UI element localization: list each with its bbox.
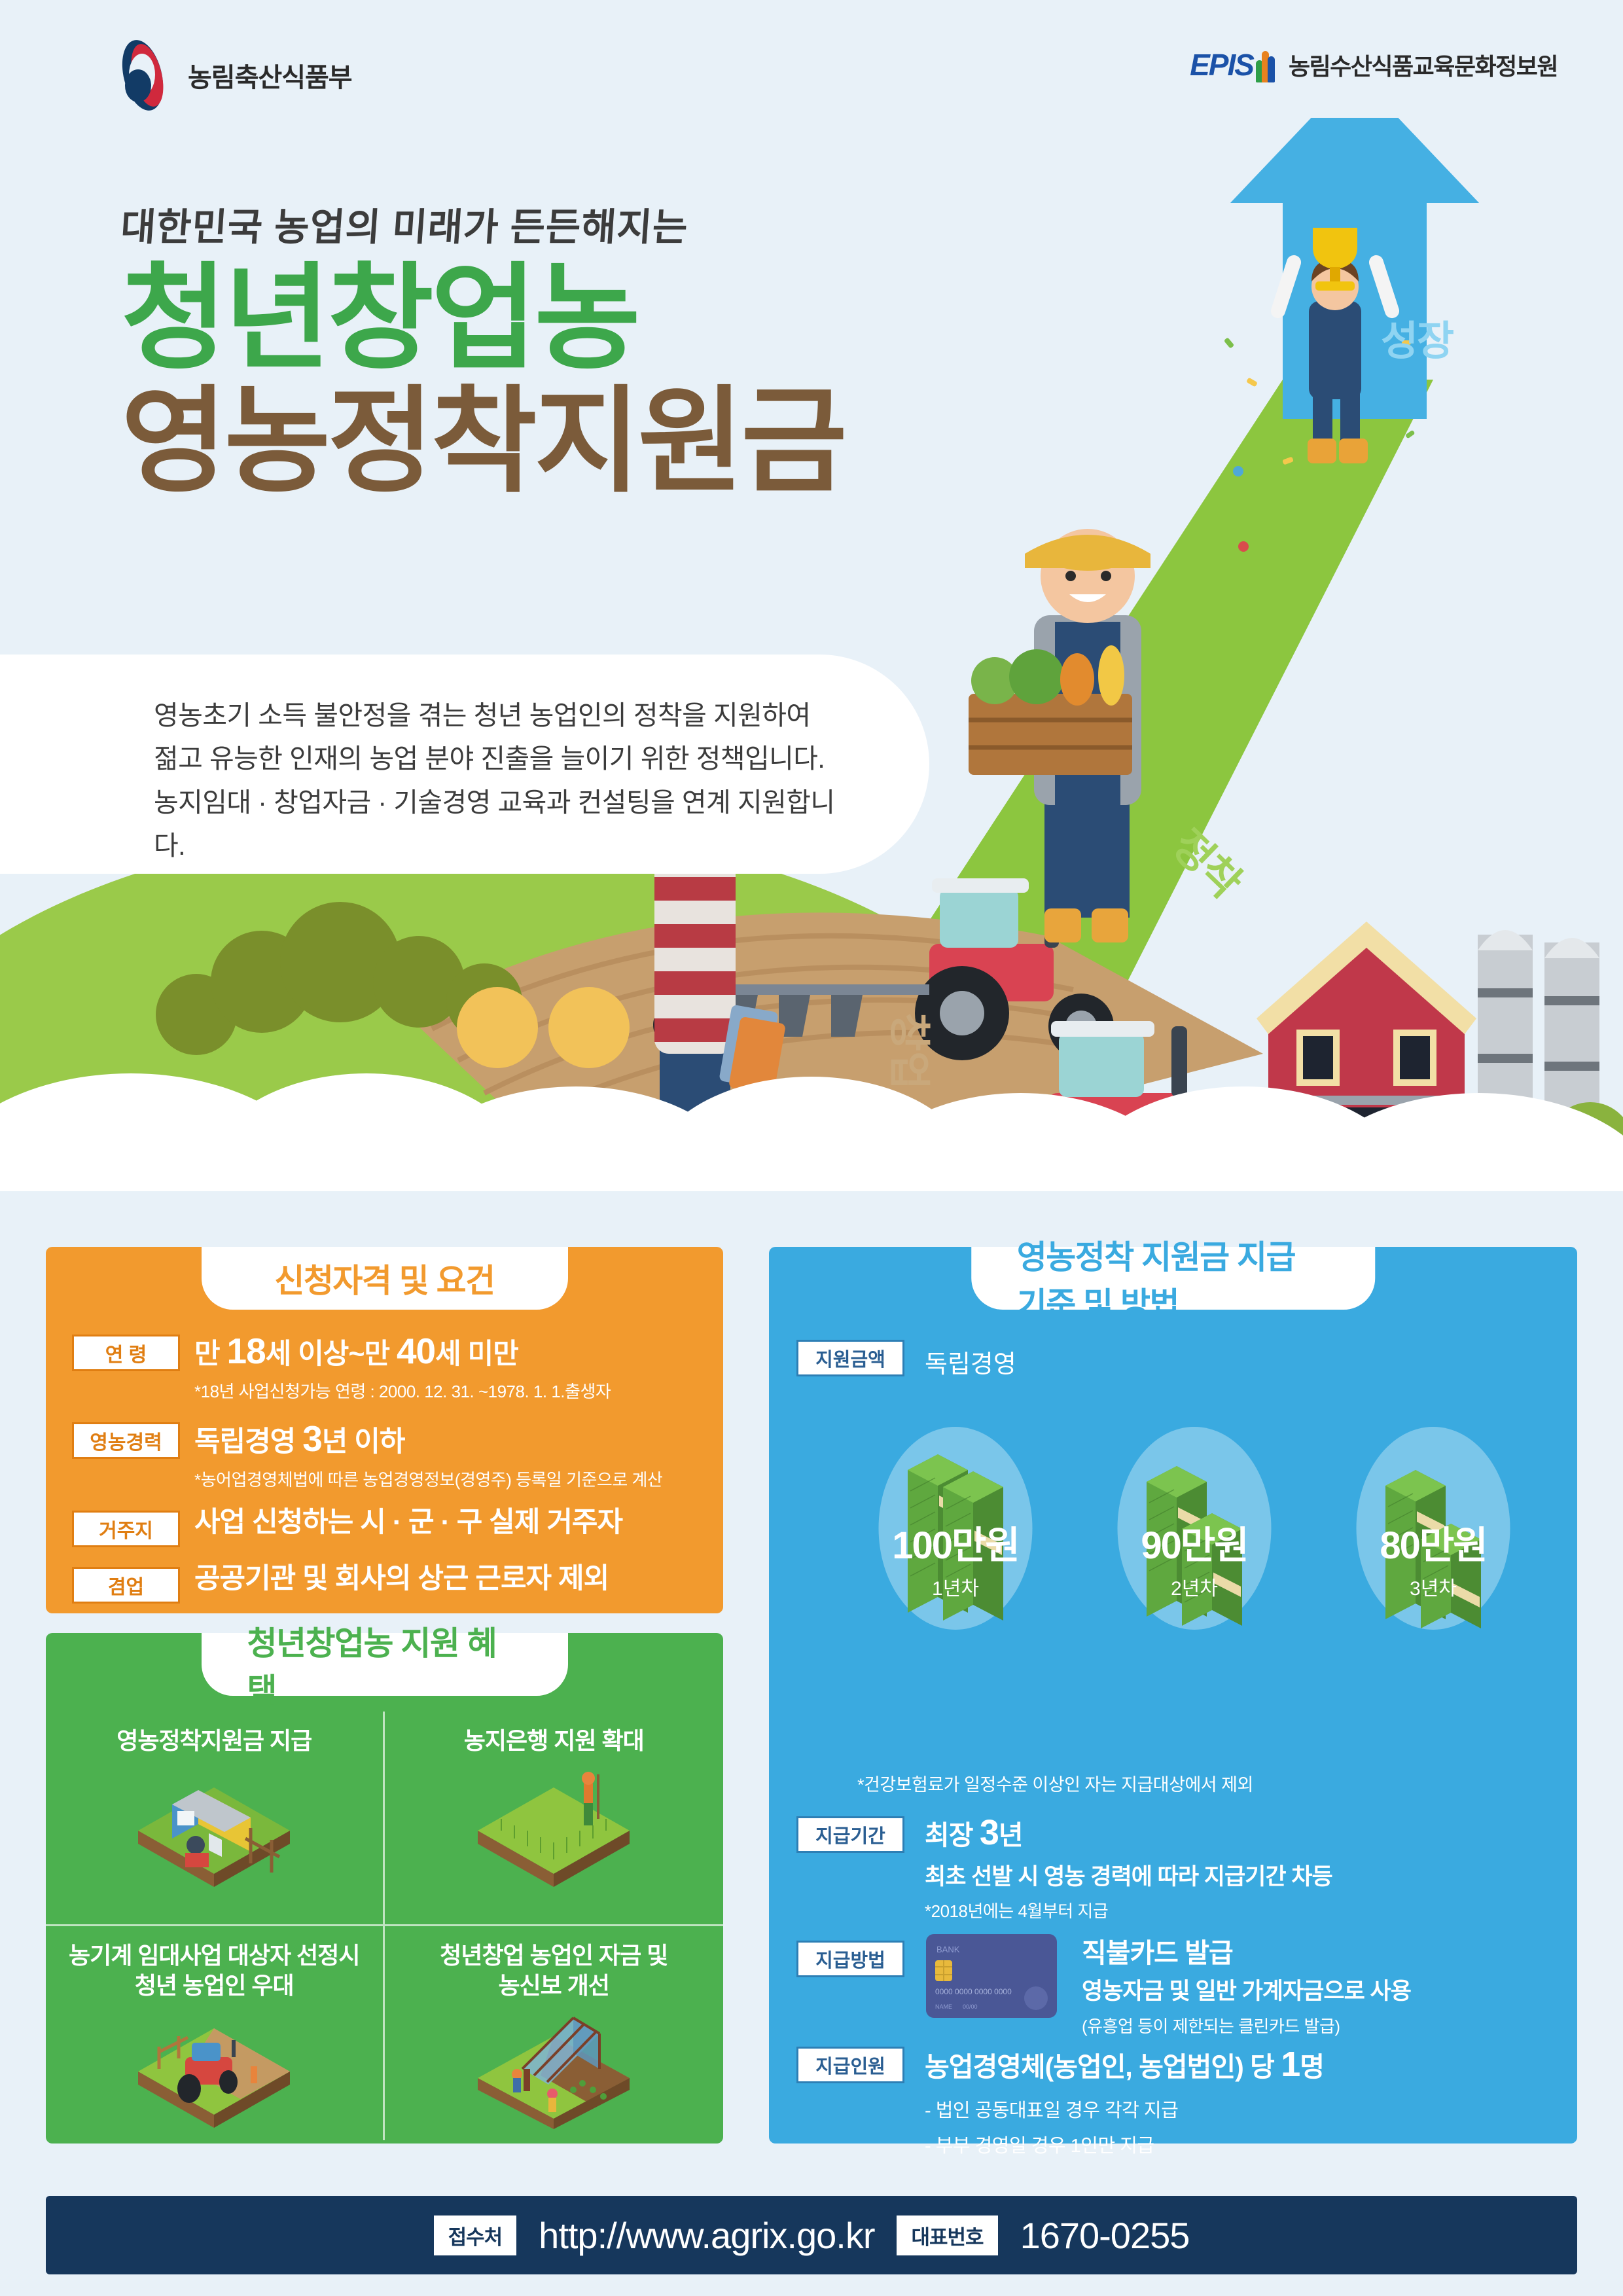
arrow-growth-label: 성장 xyxy=(1381,308,1453,367)
phone-number[interactable]: 1670-0255 xyxy=(1020,2214,1190,2257)
qualification-chip: 영농경력 xyxy=(72,1422,180,1459)
qualification-chip: 거주지 xyxy=(72,1511,180,1547)
flame-icon xyxy=(1256,48,1275,82)
money-column: 80만원 3년차 xyxy=(1325,1414,1541,1630)
ministry-logo-label: 농림축산식품부 xyxy=(188,56,352,94)
money-value: 80만원 xyxy=(1325,1515,1541,1570)
qualification-row: 영농경력 독립경영 3년 이하 *농어업경영체법에 따른 농업경영정보(경영주)… xyxy=(72,1418,710,1490)
period-note: *2018년에는 4월부터 지급 xyxy=(925,1898,1553,1922)
qualification-row: 연 령 만 18세 이상~만 40세 미만 *18년 사업신청가능 연령 : 2… xyxy=(72,1331,710,1403)
qualification-main: 사업 신청하는 시 · 군 · 구 실제 거주자 xyxy=(194,1507,710,1539)
qualification-main: 공공기관 및 회사의 상근 근로자 제외 xyxy=(194,1563,710,1595)
benefits-title-tab: 청년창업농 지원 혜택 xyxy=(202,1633,568,1696)
payment-title-tab: 영농정착 지원금 지급 기준 및 방법 xyxy=(971,1247,1376,1310)
payment-title: 영농정착 지원금 지급 기준 및 방법 xyxy=(1017,1231,1330,1325)
benefits-grid: 영농정착지원금 지급 xyxy=(46,1712,723,2140)
benefit-label: 농기계 임대사업 대상자 선정시청년 농업인 우대 xyxy=(69,1941,360,2001)
hero-kicker: 대한민국 농업의 미래가 든든해지는 xyxy=(119,196,846,251)
apply-url[interactable]: http://www.agrix.go.kr xyxy=(539,2214,874,2257)
bank-building-icon xyxy=(135,1765,293,1890)
money-column: 90만원 2년차 xyxy=(1086,1414,1302,1630)
method-sub: 영농자금 및 일반 가계자금으로 사용 xyxy=(1082,1977,1560,2007)
svg-text:NAME: NAME xyxy=(935,2003,952,2010)
money-column: 100만원 1년차 xyxy=(847,1414,1063,1630)
qualifications-title-tab: 신청자격 및 요건 xyxy=(202,1247,568,1310)
grass-field-icon xyxy=(475,1765,632,1890)
money-value: 90만원 xyxy=(1086,1515,1302,1570)
benefit-cell: 농기계 임대사업 대상자 선정시청년 농업인 우대 xyxy=(46,1926,385,2141)
headcount-chip: 지급인원 xyxy=(796,2047,904,2083)
benefit-cell: 영농정착지원금 지급 xyxy=(46,1712,385,1926)
svg-text:0000 0000 0000 0000: 0000 0000 0000 0000 xyxy=(935,1987,1012,1996)
description-line-3: 농지임대 · 창업자금 · 기술경영 교육과 컨설팅을 연계 지원합니다. xyxy=(154,781,851,868)
method-section: 직불카드 발급 영농자금 및 일반 가계자금으로 사용 (유흥업 등이 제한되는… xyxy=(1082,1937,1560,2037)
epis-wordmark: EPIS xyxy=(1190,47,1275,82)
epis-logo: EPIS 농림수산식품교육문화정보원 xyxy=(1190,47,1558,82)
benefit-label: 영농정착지원금 지급 xyxy=(116,1726,312,1760)
money-chart: 100만원 1년차 xyxy=(838,1414,1551,1754)
hero-title-block: 대한민국 농업의 미래가 든든해지는 청년창업농 영농정착지원금 xyxy=(121,196,844,501)
phone-chip: 대표번호 xyxy=(897,2215,997,2255)
description-line-2: 젊고 유능한 인재의 농업 분야 진출을 늘이기 위한 정책입니다. xyxy=(154,737,851,780)
benefit-cell: 청년창업 농업인 자금 및농신보 개선 xyxy=(385,1926,724,2141)
money-year: 1년차 xyxy=(847,1572,1063,1601)
money-year: 3년차 xyxy=(1325,1572,1541,1601)
method-chip: 지급방법 xyxy=(796,1941,904,1977)
method-main: 직불카드 발급 xyxy=(1082,1937,1560,1970)
greenhouse-icon xyxy=(475,2006,632,2130)
ministry-logo: 농림축산식품부 xyxy=(115,39,352,111)
epis-logo-label: 농림수산식품교육문화정보원 xyxy=(1289,48,1558,82)
description-bubble: 영농초기 소득 불안정을 겪는 청년 농업인의 정착을 지원하여 젊고 유능한 … xyxy=(0,655,929,874)
method-note: (유흥업 등이 제한되는 클린카드 발급) xyxy=(1082,2013,1560,2037)
benefits-title: 청년창업농 지원 혜택 xyxy=(247,1617,522,1712)
qualifications-list: 연 령 만 18세 이상~만 40세 미만 *18년 사업신청가능 연령 : 2… xyxy=(72,1331,710,1619)
qualification-note: *18년 사업신청가능 연령 : 2000. 12. 31. ~1978. 1.… xyxy=(194,1378,710,1403)
headcount-bullet-2: - 부부 경영일 경우 1인만 지급 xyxy=(925,2130,1553,2158)
headcount-bullet-1: - 법인 공동대표일 경우 각각 지급 xyxy=(925,2095,1553,2123)
tractor-plot-icon xyxy=(135,2006,293,2130)
period-chip: 지급기간 xyxy=(796,1816,904,1853)
hero-line-2: 영농정착지원금 xyxy=(121,384,844,501)
amount-chip: 지원금액 xyxy=(796,1340,904,1376)
taegeuk-icon xyxy=(115,39,171,111)
amount-note: *건강보험료가 일정수준 이상인 자는 지급대상에서 제외 xyxy=(857,1770,1253,1796)
benefits-panel: 청년창업농 지원 혜택 영농정착지원금 지급 xyxy=(46,1633,723,2144)
hero-line-1: 청년창업농 xyxy=(121,260,844,378)
period-sub: 최초 선발 시 영농 경력에 따라 지급기간 차등 xyxy=(925,1862,1553,1892)
qualification-main: 만 18세 이상~만 40세 미만 xyxy=(194,1331,710,1372)
apply-chip: 접수처 xyxy=(434,2215,517,2255)
benefit-label: 농지은행 지원 확대 xyxy=(464,1726,644,1760)
money-value: 100만원 xyxy=(847,1515,1063,1570)
benefit-label: 청년창업 농업인 자금 및농신보 개선 xyxy=(440,1941,668,2001)
qualifications-panel: 신청자격 및 요건 연 령 만 18세 이상~만 40세 미만 *18년 사업신… xyxy=(46,1247,723,1613)
field-startup-label: 창업 xyxy=(882,1013,942,1090)
payment-panel: 영농정착 지원금 지급 기준 및 방법 지원금액 독립경영 xyxy=(769,1247,1577,2144)
qualification-note: *농어업경영체법에 따른 농업경영정보(경영주) 등록일 기준으로 계산 xyxy=(194,1467,710,1491)
money-year: 2년차 xyxy=(1086,1572,1302,1601)
svg-text:00/00: 00/00 xyxy=(963,2003,978,2010)
svg-text:BANK: BANK xyxy=(936,1945,960,1954)
amount-subtitle-wrap: 독립경영 xyxy=(925,1344,1016,1380)
period-main: 최장 3년 xyxy=(925,1811,1553,1856)
headcount-main: 농업경영체(농업인, 농업법인) 당 1명 xyxy=(925,2043,1553,2087)
footer-bar: 접수처 http://www.agrix.go.kr 대표번호 1670-025… xyxy=(46,2196,1577,2274)
debit-card-icon: BANK 0000 0000 0000 0000 NAME 00/00 xyxy=(926,1934,1057,2018)
amount-subtitle: 독립경영 xyxy=(925,1344,1016,1380)
header-logo-row: 농림축산식품부 EPIS 농림수산식품교육문화정보원 xyxy=(0,39,1623,131)
qualification-chip: 연 령 xyxy=(72,1335,180,1371)
qualification-row: 거주지 사업 신청하는 시 · 군 · 구 실제 거주자 xyxy=(72,1507,710,1547)
headcount-section: 농업경영체(농업인, 농업법인) 당 1명 - 법인 공동대표일 경우 각각 지… xyxy=(925,2043,1553,2158)
period-section: 최장 3년 최초 선발 시 영농 경력에 따라 지급기간 차등 *2018년에는… xyxy=(925,1811,1553,1922)
qualification-chip: 겸업 xyxy=(72,1567,180,1604)
qualification-row: 겸업 공공기관 및 회사의 상근 근로자 제외 xyxy=(72,1563,710,1604)
benefit-cell: 농지은행 지원 확대 xyxy=(385,1712,724,1926)
qualification-main: 독립경영 3년 이하 xyxy=(194,1418,710,1460)
qualifications-title: 신청자격 및 요건 xyxy=(274,1255,494,1302)
description-line-1: 영농초기 소득 불안정을 겪는 청년 농업인의 정착을 지원하여 xyxy=(154,694,851,737)
